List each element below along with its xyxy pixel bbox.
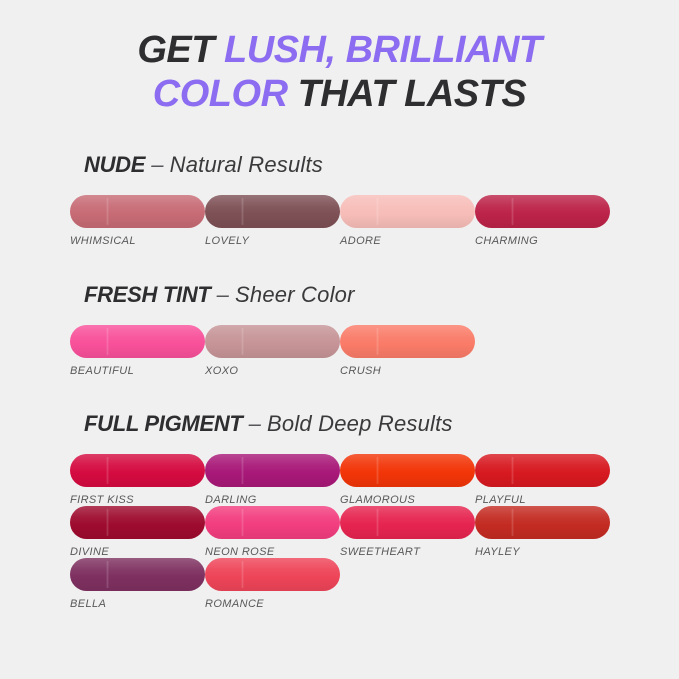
- swatch-label: LOVELY: [205, 235, 340, 248]
- section-subtitle: Bold Deep Results: [267, 411, 453, 436]
- swatch-cell-adore[interactable]: ADORE: [340, 195, 475, 248]
- swatch-label: BEAUTIFUL: [70, 365, 205, 378]
- color-swatch[interactable]: [70, 558, 205, 591]
- swatch-cell-crush[interactable]: CRUSH: [340, 325, 475, 378]
- swatch-cell-glamorous[interactable]: GLAMOROUS: [340, 454, 475, 507]
- swatch-cell-charming[interactable]: CHARMING: [475, 195, 610, 248]
- section-dash: –: [145, 152, 169, 177]
- section-name: FULL PIGMENT: [84, 411, 243, 436]
- swatch-row: WHIMSICAL LOVELY ADORE CHARMING: [70, 195, 679, 247]
- color-swatch[interactable]: [475, 454, 610, 487]
- section-name: FRESH TINT: [84, 282, 211, 307]
- swatch-row: FIRST KISS DARLING GLAMOROUS PLAYFUL: [70, 454, 679, 506]
- swatch-cell-beautiful[interactable]: BEAUTIFUL: [70, 325, 205, 378]
- color-swatch[interactable]: [70, 195, 205, 228]
- swatch-cell-first-kiss[interactable]: FIRST KISS: [70, 454, 205, 507]
- section-subtitle: Sheer Color: [235, 282, 355, 307]
- color-swatch[interactable]: [340, 454, 475, 487]
- section-subtitle: Natural Results: [170, 152, 323, 177]
- swatch-cell-playful[interactable]: PLAYFUL: [475, 454, 610, 507]
- color-swatch[interactable]: [70, 506, 205, 539]
- swatch-cell-neon-rose[interactable]: NEON ROSE: [205, 506, 340, 559]
- swatch-row: BEAUTIFUL XOXO CRUSH: [70, 325, 679, 377]
- section-title-nude: NUDE – Natural Results: [84, 152, 679, 178]
- headline-color: COLOR: [153, 73, 288, 115]
- headline-line-1: GET LUSH, BRILLIANT: [0, 28, 679, 72]
- swatch-rows-nude: WHIMSICAL LOVELY ADORE CHARMING: [0, 195, 679, 247]
- color-swatch[interactable]: [205, 558, 340, 591]
- swatch-cell-bella[interactable]: BELLA: [70, 558, 205, 611]
- swatch-label: BELLA: [70, 598, 205, 611]
- section-dash: –: [211, 282, 235, 307]
- page-title: GET LUSH, BRILLIANT COLOR THAT LASTS: [0, 28, 679, 116]
- swatch-label: ROMANCE: [205, 598, 340, 611]
- section-nude: NUDE – Natural Results WHIMSICAL LOVELY …: [0, 152, 679, 247]
- color-swatch[interactable]: [340, 506, 475, 539]
- section-full-pigment: FULL PIGMENT – Bold Deep Results FIRST K…: [0, 411, 679, 610]
- color-swatch[interactable]: [475, 195, 610, 228]
- color-swatch[interactable]: [70, 454, 205, 487]
- swatch-label: CRUSH: [340, 365, 475, 378]
- color-swatch[interactable]: [340, 195, 475, 228]
- section-fresh-tint: FRESH TINT – Sheer Color BEAUTIFUL XOXO …: [0, 282, 679, 377]
- headline-that-lasts: THAT LASTS: [288, 73, 527, 115]
- swatch-label: XOXO: [205, 365, 340, 378]
- color-swatch[interactable]: [340, 325, 475, 358]
- swatch-cell-lovely[interactable]: LOVELY: [205, 195, 340, 248]
- swatch-cell-sweetheart[interactable]: SWEETHEART: [340, 506, 475, 559]
- swatch-cell-divine[interactable]: DIVINE: [70, 506, 205, 559]
- section-title-fresh-tint: FRESH TINT – Sheer Color: [84, 282, 679, 308]
- swatch-row: BELLA ROMANCE: [70, 558, 679, 610]
- swatch-label: CHARMING: [475, 235, 610, 248]
- section-title-full-pigment: FULL PIGMENT – Bold Deep Results: [84, 411, 679, 437]
- swatch-rows-fresh-tint: BEAUTIFUL XOXO CRUSH: [0, 325, 679, 377]
- headline-get: GET: [137, 29, 224, 71]
- color-swatch[interactable]: [205, 195, 340, 228]
- color-swatch[interactable]: [475, 506, 610, 539]
- swatch-cell-darling[interactable]: DARLING: [205, 454, 340, 507]
- lipstick-shade-chart: GET LUSH, BRILLIANT COLOR THAT LASTS NUD…: [0, 0, 679, 679]
- headline-line-2: COLOR THAT LASTS: [0, 72, 679, 116]
- swatch-label: WHIMSICAL: [70, 235, 205, 248]
- headline-lush-brilliant: LUSH, BRILLIANT: [224, 29, 542, 71]
- swatch-cell-hayley[interactable]: HAYLEY: [475, 506, 610, 559]
- swatch-rows-full-pigment: FIRST KISS DARLING GLAMOROUS PLAYFUL: [0, 454, 679, 610]
- swatch-label: ADORE: [340, 235, 475, 248]
- color-swatch[interactable]: [70, 325, 205, 358]
- color-swatch[interactable]: [205, 506, 340, 539]
- swatch-cell-xoxo[interactable]: XOXO: [205, 325, 340, 378]
- color-swatch[interactable]: [205, 454, 340, 487]
- swatch-cell-romance[interactable]: ROMANCE: [205, 558, 340, 611]
- section-name: NUDE: [84, 152, 145, 177]
- swatch-row: DIVINE NEON ROSE SWEETHEART HAYLEY: [70, 506, 679, 558]
- color-swatch[interactable]: [205, 325, 340, 358]
- swatch-cell-whimsical[interactable]: WHIMSICAL: [70, 195, 205, 248]
- section-dash: –: [243, 411, 267, 436]
